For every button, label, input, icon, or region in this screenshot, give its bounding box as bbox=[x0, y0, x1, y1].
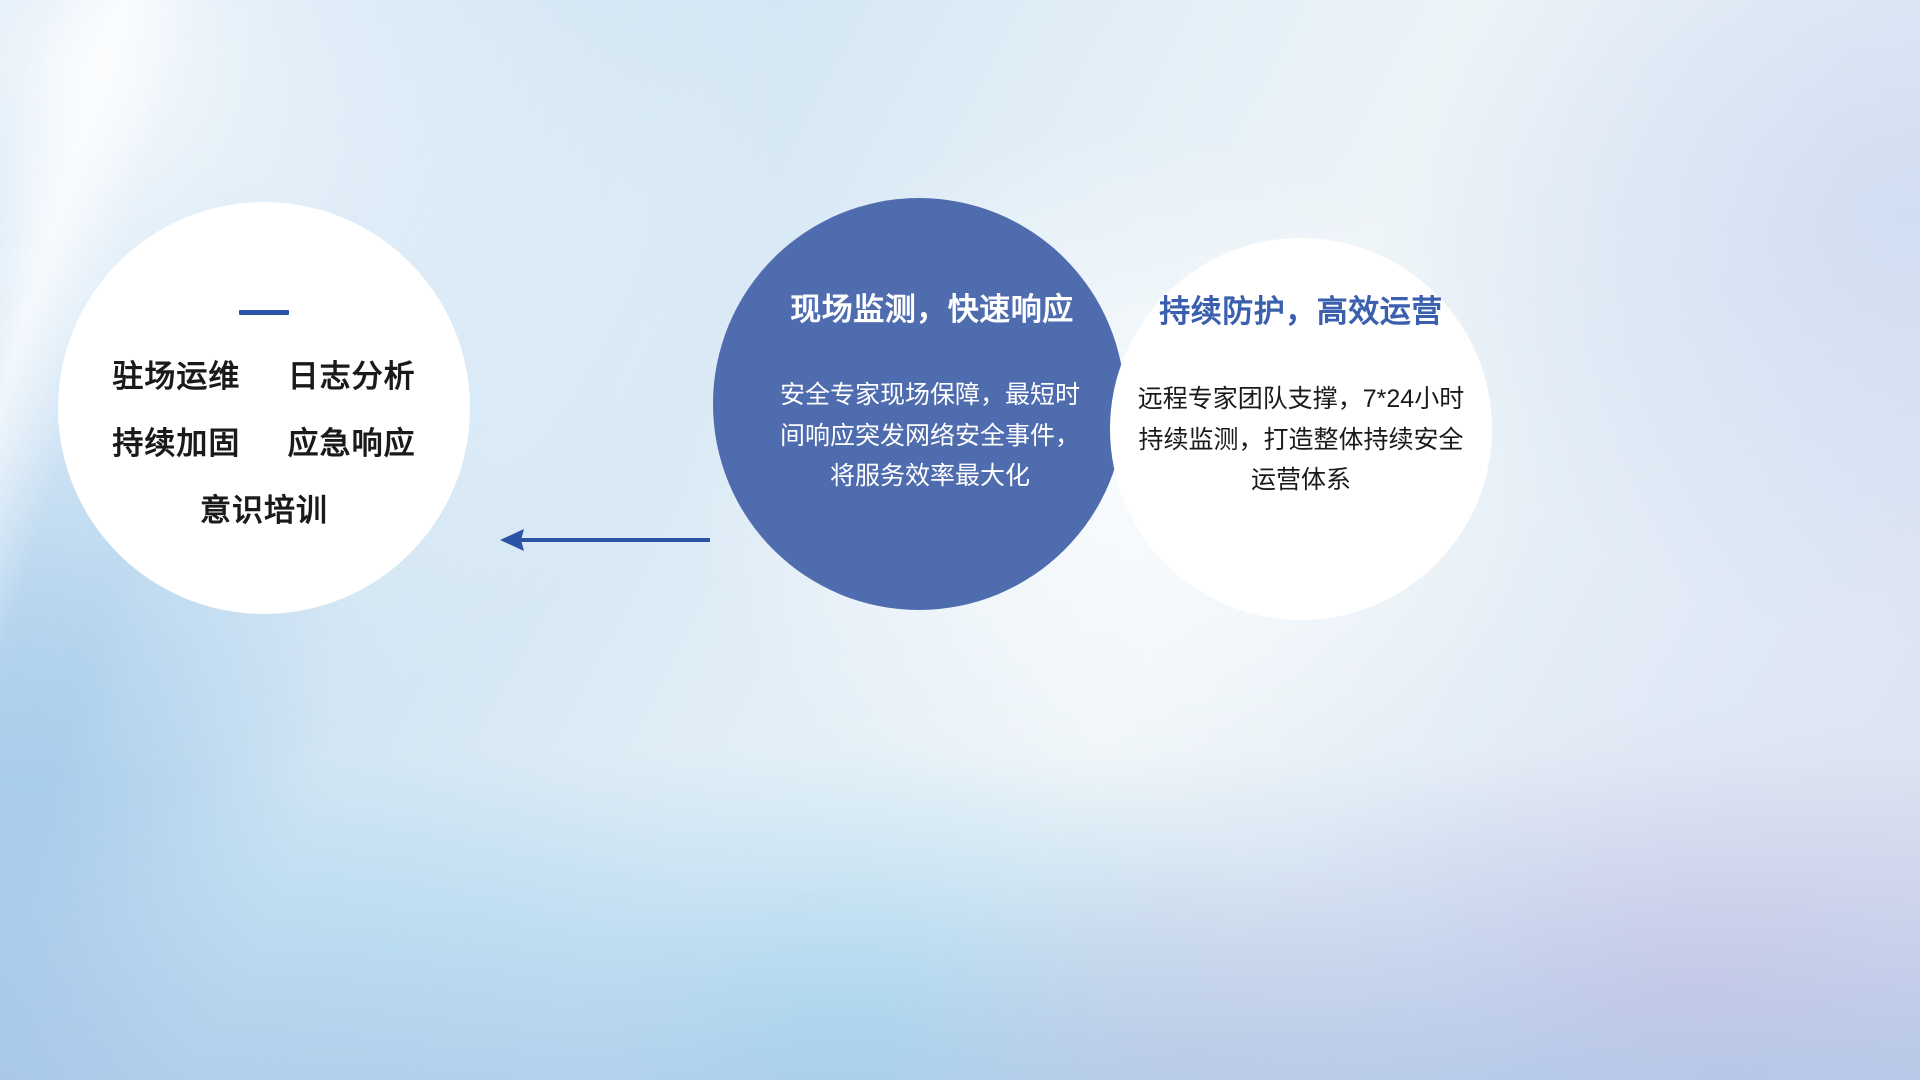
left-capability-1: 驻场运维 bbox=[112, 359, 240, 394]
left-circle-line-3: 意识培训 bbox=[200, 495, 328, 526]
left-capability-3: 持续加固 bbox=[112, 426, 240, 461]
slide-canvas: 驻场运维 日志分析 持续加固 应急响应 意识培训 现场监测，快速响应 安全专家现… bbox=[0, 0, 1920, 1080]
middle-circle-heading: 现场监测，快速响应 bbox=[790, 284, 1074, 329]
left-circle-line-2: 持续加固 应急响应 bbox=[112, 428, 415, 459]
left-circle-content: 驻场运维 日志分析 持续加固 应急响应 意识培训 bbox=[58, 202, 470, 614]
divider-line bbox=[239, 310, 289, 315]
right-circle-body: 远程专家团队支撑，7*24小时持续监测，打造整体持续安全运营体系 bbox=[1129, 379, 1474, 501]
middle-circle-body: 安全专家现场保障，最短时间响应突发网络安全事件，将服务效率最大化 bbox=[780, 375, 1080, 497]
right-circle-content: 持续防护，高效运营 远程专家团队支撑，7*24小时持续监测，打造整体持续安全运营… bbox=[1110, 238, 1492, 620]
middle-circle-content: 现场监测，快速响应 安全专家现场保障，最短时间响应突发网络安全事件，将服务效率最… bbox=[713, 198, 1125, 610]
arrow-left-icon bbox=[498, 524, 710, 556]
left-capability-5: 意识培训 bbox=[200, 493, 328, 528]
left-circle-line-1: 驻场运维 日志分析 bbox=[112, 361, 415, 392]
left-capability-4: 应急响应 bbox=[288, 426, 416, 461]
right-circle-heading: 持续防护，高效运营 bbox=[1159, 286, 1443, 331]
left-capability-2: 日志分析 bbox=[288, 359, 416, 394]
